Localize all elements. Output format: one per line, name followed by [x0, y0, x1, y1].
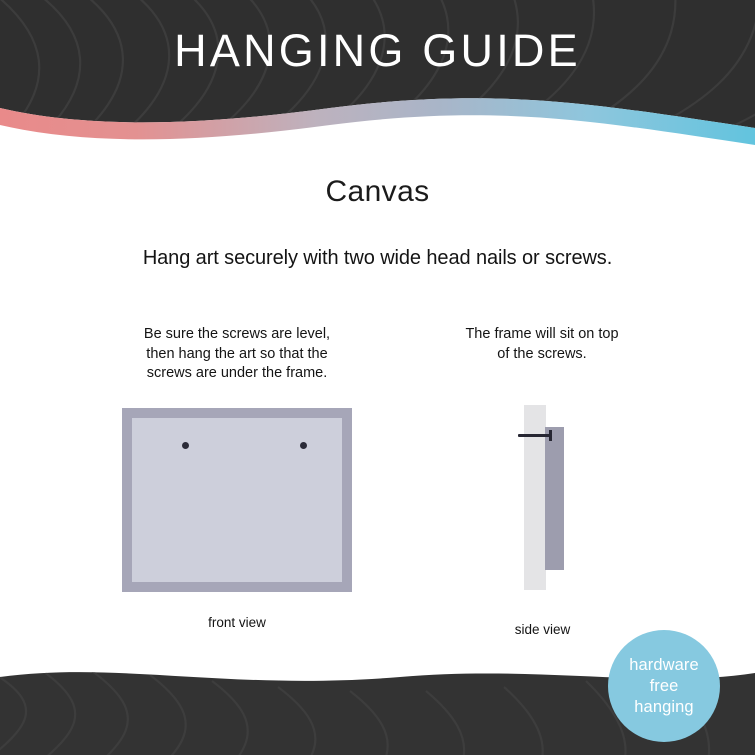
- side-caption-line-2: of the screws.: [420, 345, 664, 365]
- front-caption-line-3: screws are under the frame.: [84, 364, 390, 384]
- badge-line-1: hardware: [629, 655, 699, 676]
- badge-line-2: free: [650, 676, 679, 697]
- wall-surface: [524, 405, 546, 590]
- hardware-free-badge: hardware free hanging: [608, 630, 720, 742]
- product-type-heading: Canvas: [0, 175, 755, 209]
- front-view-diagram: [122, 408, 352, 592]
- side-view-diagram: [520, 405, 600, 595]
- canvas-frame-profile: [545, 427, 564, 570]
- screw-head-left-icon: [182, 442, 189, 449]
- front-view-caption-block: Be sure the screws are level, then hang …: [84, 325, 390, 384]
- canvas-face: [132, 418, 342, 582]
- side-view-caption-block: The frame will sit on top of the screws.: [420, 325, 664, 364]
- side-caption-line-1: The frame will sit on top: [420, 325, 664, 345]
- hanging-guide-page: HANGING GUIDE Canvas Hang art securely w…: [0, 0, 755, 755]
- instruction-lead-text: Hang art securely with two wide head nai…: [0, 247, 755, 270]
- header-banner: HANGING GUIDE: [0, 0, 755, 150]
- screw-head-right-icon: [300, 442, 307, 449]
- page-title: HANGING GUIDE: [0, 28, 755, 73]
- front-caption-line-2: then hang the art so that the: [84, 345, 390, 365]
- screw-shaft-icon: [518, 434, 551, 437]
- badge-line-3: hanging: [634, 697, 693, 718]
- screw-tip-icon: [549, 430, 552, 441]
- front-caption-line-1: Be sure the screws are level,: [84, 325, 390, 345]
